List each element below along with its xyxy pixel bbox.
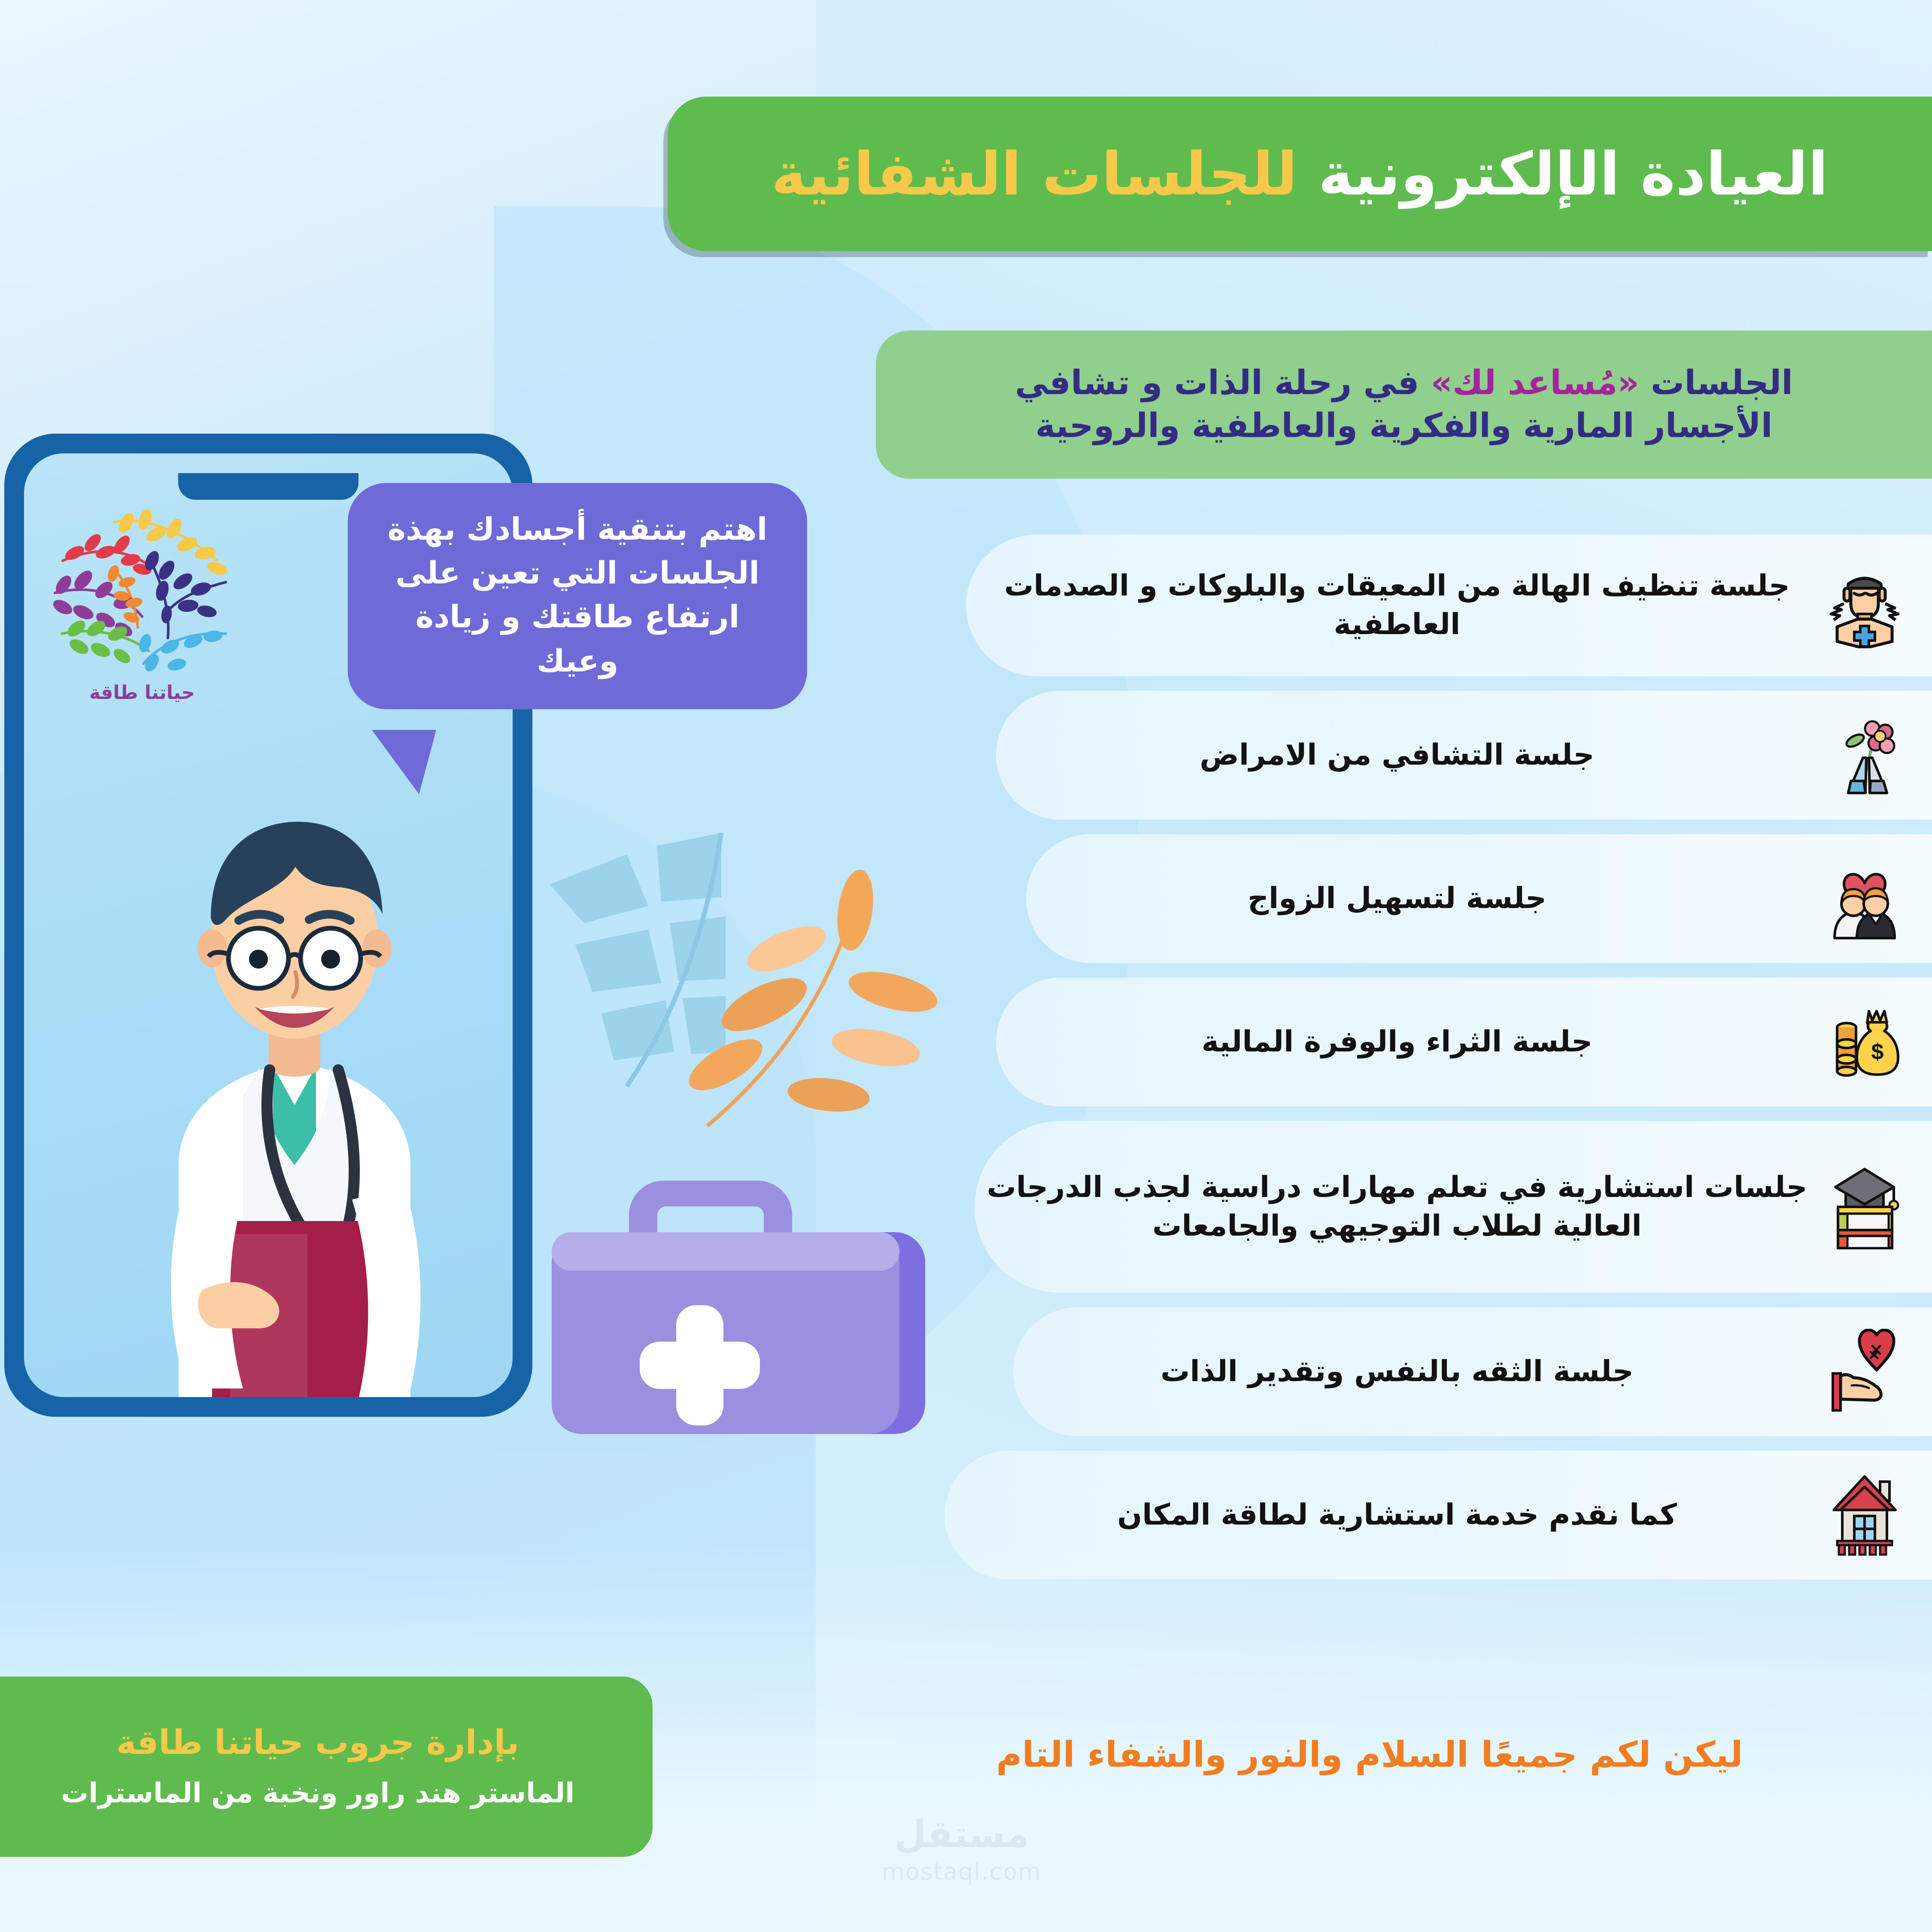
- medical-kit-illustration: [535, 1125, 942, 1434]
- service-label: جلسة الثقه بالنفس وتقدير الذات: [962, 1352, 1820, 1391]
- infographic-canvas: حياتنا طاقة: [0, 0, 1932, 1932]
- service-row[interactable]: جلسة لتسهيل الزواج: [945, 834, 1932, 963]
- person-energy-healing-icon: [1820, 560, 1910, 650]
- mostaql-watermark: مستقل mostaql.com: [841, 1816, 1082, 1885]
- flower-pills-icon: [1820, 710, 1910, 800]
- brand-logo: حياتنا طاقة: [50, 505, 234, 704]
- subtitle-banner: الجلسات «مُساعد لك» في رحلة الذات و تشاف…: [876, 331, 1932, 479]
- subtitle-suffix: في رحلة الذات و تشافي: [1015, 364, 1431, 402]
- footer-masters-line: الماستر هند راور ونخبة من الماسترات: [61, 1776, 574, 1810]
- money-bag-coins-icon: $: [1820, 997, 1910, 1087]
- phone-notch: [178, 473, 358, 500]
- doctor-character-illustration: [101, 719, 488, 1397]
- services-list: جلسة تنظيف الهالة من المعيقات والبلوكات …: [945, 535, 1932, 1594]
- service-row[interactable]: جلسة الثقه بالنفس وتقدير الذات: [945, 1307, 1932, 1436]
- service-label: جلسة التشافي من الامراض: [962, 736, 1820, 775]
- speech-bubble: اهتم بتنقية أجسادك بهذة الجلسات التي تعي…: [348, 483, 807, 709]
- service-row[interactable]: جلسة التشافي من الامراض: [945, 691, 1932, 820]
- title-banner: العيادة الإلكترونية للجلسات الشفائية: [668, 97, 1932, 251]
- service-row[interactable]: جلسات استشارية في تعلم مهارات دراسية لجذ…: [945, 1121, 1932, 1293]
- speech-bubble-tail: [372, 730, 436, 794]
- footer-admin-line: بإدارة جروب حياتنا طاقة: [116, 1723, 519, 1763]
- service-label: كما نقدم خدمة استشارية لطاقة المكان: [962, 1496, 1820, 1534]
- subtitle-prefix: الجلسات: [1639, 364, 1793, 402]
- svg-text:$: $: [1871, 1039, 1884, 1064]
- page-title-main: العيادة الإلكترونية: [1318, 140, 1828, 209]
- footer-credits-banner: بإدارة جروب حياتنا طاقة الماستر هند راور…: [0, 1677, 653, 1857]
- page-title-accent: للجلسات الشفائية: [772, 140, 1297, 209]
- bride-groom-heart-icon: [1820, 854, 1910, 944]
- watermark-arabic: مستقل: [894, 1816, 1030, 1853]
- subtitle-line-1: الجلسات «مُساعد لك» في رحلة الذات و تشاف…: [1015, 362, 1793, 405]
- service-row[interactable]: جلسة تنظيف الهالة من المعيقات والبلوكات …: [945, 535, 1932, 676]
- subtitle-highlight: «مُساعد لك»: [1431, 364, 1639, 402]
- page-title: العيادة الإلكترونية للجلسات الشفائية: [772, 140, 1829, 209]
- heart-in-hand-icon: [1820, 1327, 1910, 1417]
- service-row[interactable]: $ جلسة الثراء والوفرة المالية: [945, 978, 1932, 1106]
- logo-caption: حياتنا طاقة: [50, 682, 234, 704]
- graduation-books-icon: [1820, 1162, 1910, 1252]
- watermark-latin: mostaql.com: [882, 1858, 1042, 1885]
- subtitle-line-2: الأجسار المارية والفكرية والعاطفية والرو…: [1036, 405, 1773, 448]
- service-label: جلسات استشارية في تعلم مهارات دراسية لجذ…: [962, 1168, 1820, 1246]
- service-label: جلسة تنظيف الهالة من المعيقات والبلوكات …: [962, 567, 1820, 644]
- speech-bubble-text: اهتم بتنقية أجسادك بهذة الجلسات التي تعي…: [375, 507, 780, 683]
- leaves-logo-icon: [50, 505, 234, 677]
- service-label: جلسة لتسهيل الزواج: [962, 879, 1820, 918]
- service-label: جلسة الثراء والوفرة المالية: [962, 1023, 1820, 1061]
- closing-wish-text: ليكن لكم جميعًا السلام والنور والشفاء ال…: [850, 1735, 1889, 1775]
